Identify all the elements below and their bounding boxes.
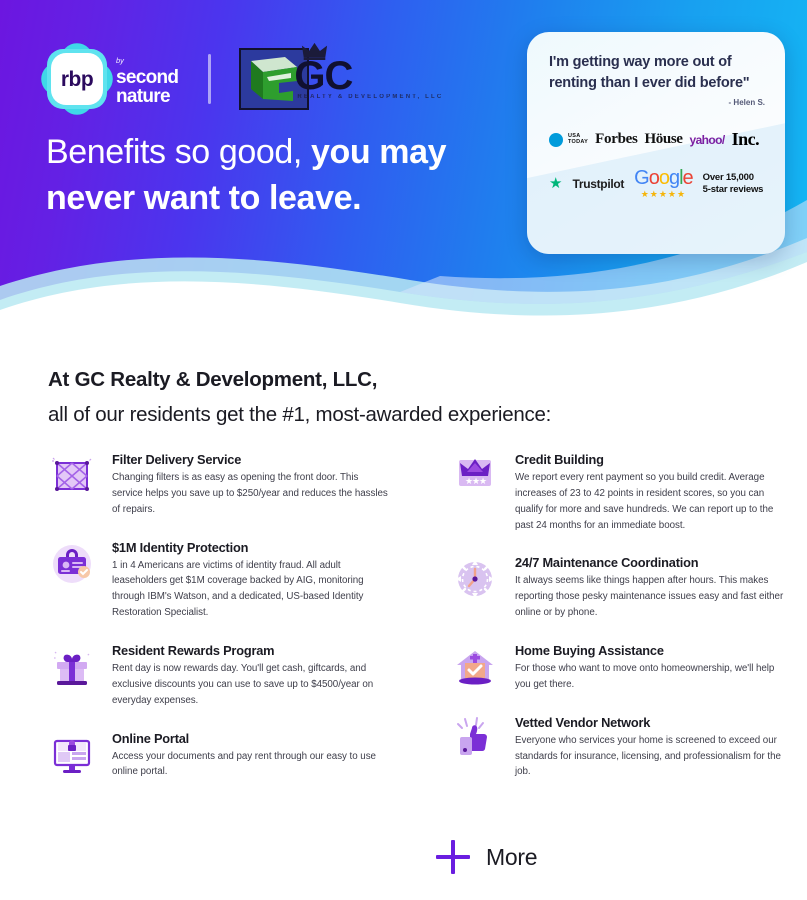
testimonial-card: I'm getting way more out of renting than…: [527, 32, 785, 254]
benefit-text: $1M Identity Protection 1 in 4 Americans…: [112, 540, 389, 621]
benefit-text: Online Portal Access your documents and …: [112, 731, 389, 781]
benefit-text: Credit Building We report every rent pay…: [515, 452, 792, 533]
media-logos-row: USA TODAY Forbes Höuse yahoo/ Inc.: [549, 129, 765, 150]
usa-today-dot-icon: [549, 133, 563, 147]
benefit-item: $1M Identity Protection 1 in 4 Americans…: [48, 540, 389, 621]
benefit-item: Filter Delivery Service Changing filters…: [48, 452, 389, 518]
hero-banner: rbp by second nature GC REAL: [0, 0, 807, 330]
gc-subtitle: REALTY & DEVELOPMENT, LLC: [297, 94, 443, 100]
benefit-title: Filter Delivery Service: [112, 452, 389, 467]
benefits-grid: Filter Delivery Service Changing filters…: [0, 452, 807, 802]
second-word: second: [116, 68, 178, 87]
benefit-title: Online Portal: [112, 731, 389, 746]
house-logo: Höuse: [645, 131, 683, 148]
page-title: At GC Realty & Development, LLC, all of …: [48, 362, 551, 433]
benefit-item: Vetted Vendor Network Everyone who servi…: [451, 715, 792, 781]
review-count: Over 15,000 5-star reviews: [703, 172, 764, 196]
benefit-description: It always seems like things happen after…: [515, 573, 792, 621]
benefit-description: Changing filters is as easy as opening t…: [112, 470, 389, 518]
brand-logo-row: rbp by second nature GC REAL: [44, 44, 309, 114]
svg-text:★: ★: [479, 476, 487, 486]
benefit-title: Credit Building: [515, 452, 792, 467]
gift-icon: [48, 643, 96, 691]
nature-word: nature: [116, 87, 178, 106]
benefit-item: Resident Rewards Program Rent day is now…: [48, 643, 389, 709]
thumbs-up-icon: [451, 715, 499, 763]
benefit-text: Resident Rewards Program Rent day is now…: [112, 643, 389, 709]
reviews-row: ★ Trustpilot Google ★★★★★ Over 15,000 5-…: [549, 168, 765, 199]
trustpilot-logo: Trustpilot: [572, 177, 624, 191]
benefit-description: Rent day is now rewards day. You'll get …: [112, 661, 389, 709]
gc-wordmark: GC: [294, 56, 352, 96]
yahoo-logo: yahoo/: [690, 133, 725, 147]
inc-logo: Inc.: [732, 129, 760, 150]
home-check-icon: [451, 643, 499, 691]
more-button[interactable]: More: [436, 840, 537, 874]
gc-realty-logo: GC REALTY & DEVELOPMENT, LLC: [239, 44, 309, 114]
trustpilot-star-icon: ★: [549, 176, 562, 191]
benefit-text: 24/7 Maintenance Coordination It always …: [515, 555, 792, 621]
benefit-item: Home Buying Assistance For those who wan…: [451, 643, 792, 693]
benefit-item: 24/7 Maintenance Coordination It always …: [451, 555, 792, 621]
benefit-title: Vetted Vendor Network: [515, 715, 792, 730]
benefit-description: We report every rent payment so you buil…: [515, 470, 792, 533]
benefit-text: Home Buying Assistance For those who wan…: [515, 643, 792, 693]
headline-line2: never want to leave.: [46, 179, 361, 217]
benefit-item: Online Portal Access your documents and …: [48, 731, 389, 781]
page-title-line1: At GC Realty & Development, LLC,: [48, 362, 551, 397]
more-label: More: [486, 844, 537, 871]
second-nature-logo: by second nature: [116, 51, 178, 106]
benefit-description: 1 in 4 Americans are victims of identity…: [112, 558, 389, 621]
testimonial-quote: I'm getting way more out of renting than…: [549, 52, 765, 93]
forbes-logo: Forbes: [595, 131, 637, 148]
monitor-lock-icon: [48, 731, 96, 779]
benefit-title: $1M Identity Protection: [112, 540, 389, 555]
filter-icon: [48, 452, 96, 500]
benefit-text: Vetted Vendor Network Everyone who servi…: [515, 715, 792, 781]
page-title-line2: all of our residents get the #1, most-aw…: [48, 397, 551, 432]
benefit-item: ★ ★ ★ Credit Building We report every re…: [451, 452, 792, 533]
by-label: by: [116, 56, 124, 65]
rbp-wordmark: rbp: [61, 69, 93, 90]
benefit-title: Resident Rewards Program: [112, 643, 389, 658]
rbp-white-badge: rbp: [51, 53, 103, 105]
google-star-rating: ★★★★★: [634, 190, 693, 199]
benefits-column-right: ★ ★ ★ Credit Building We report every re…: [403, 452, 806, 802]
benefit-description: Everyone who services your home is scree…: [515, 733, 792, 781]
id-card-shield-icon: [48, 540, 96, 588]
usa-today-logo: USA TODAY: [568, 134, 588, 146]
benefit-text: Filter Delivery Service Changing filters…: [112, 452, 389, 518]
headline-part-light: Benefits so good,: [46, 133, 302, 171]
benefit-title: 24/7 Maintenance Coordination: [515, 555, 792, 570]
benefit-title: Home Buying Assistance: [515, 643, 792, 658]
benefit-description: Access your documents and pay rent throu…: [112, 749, 389, 781]
headline-part-bold: you may: [302, 133, 446, 171]
hero-headline: Benefits so good, you may never want to …: [46, 130, 446, 221]
benefit-description: For those who want to move onto homeowne…: [515, 661, 792, 693]
clock-icon: [451, 555, 499, 603]
benefits-column-left: Filter Delivery Service Changing filters…: [0, 452, 403, 802]
logo-divider: [208, 54, 211, 104]
rbp-logo: rbp: [44, 46, 110, 112]
plus-icon: [436, 840, 470, 874]
crown-stars-icon: ★ ★ ★: [451, 452, 499, 500]
google-logo: Google ★★★★★: [634, 168, 693, 199]
testimonial-author: - Helen S.: [549, 98, 765, 107]
